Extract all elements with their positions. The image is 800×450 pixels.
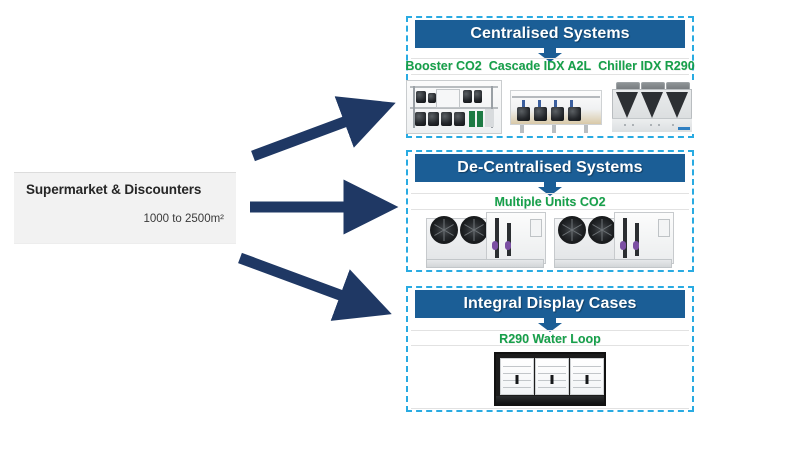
arrow-to-centralised: [253, 112, 371, 156]
equipment-image-cascade-idx-a2l: [508, 88, 604, 134]
diagram-canvas: Supermarket & Discounters 1000 to 2500m²…: [0, 0, 800, 450]
equipment-image-chiller-idx-r290: [610, 80, 694, 134]
panel-header-label: Centralised Systems: [470, 25, 629, 43]
panel-header-centralised: Centralised Systems: [415, 20, 685, 48]
equipment-label-chiller: Chiller IDX R290: [598, 59, 695, 73]
panel-decentralised-systems: De-Centralised Systems Multiple Units CO…: [406, 150, 694, 272]
source-category-subtitle: 1000 to 2500m²: [143, 213, 224, 225]
equipment-image-condensing-unit-2: [552, 212, 676, 270]
panel-header-integral: Integral Display Cases: [415, 290, 685, 318]
equipment-label-multiple-units: Multiple Units CO2: [494, 195, 605, 209]
equipment-image-booster-co2-rack: [406, 80, 502, 134]
equipment-label-booster: Booster CO2: [405, 59, 481, 73]
equipment-label-r290-water-loop: R290 Water Loop: [499, 332, 601, 346]
equipment-image-integral-display-case: [494, 352, 606, 406]
panel-header-label: De-Centralised Systems: [457, 159, 642, 177]
source-category-box: Supermarket & Discounters 1000 to 2500m²: [14, 172, 236, 244]
panel-centralised-systems: Centralised Systems Booster CO2 Cascade …: [406, 16, 694, 138]
panel-integral-display-cases: Integral Display Cases R290 Water Loop: [406, 286, 694, 412]
source-category-title: Supermarket & Discounters: [26, 182, 201, 197]
equipment-image-condensing-unit-1: [424, 212, 548, 270]
panel-header-label: Integral Display Cases: [464, 295, 637, 313]
equipment-label-cascade: Cascade IDX A2L: [489, 59, 591, 73]
panel-header-decentralised: De-Centralised Systems: [415, 154, 685, 182]
arrow-to-integral: [240, 258, 367, 305]
